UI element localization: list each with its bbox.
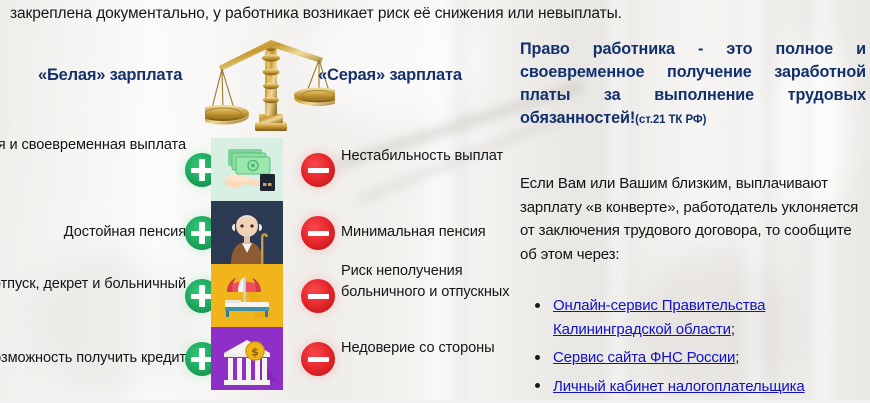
scales-of-justice-icon bbox=[205, 28, 335, 140]
bullet-icon bbox=[535, 383, 540, 388]
column-header-grey-salary: «Серая» зарплата bbox=[318, 66, 462, 85]
rights-headline-article: (ст.21 ТК РФ) bbox=[635, 114, 706, 126]
pro-label: Достойная пенсия bbox=[0, 222, 186, 243]
pro-label: Гарантированная и своевременная выплата bbox=[0, 135, 186, 156]
red-minus-icon bbox=[301, 279, 335, 313]
report-instructions: Если Вам или Вашим близким, выплачивают … bbox=[520, 172, 866, 266]
link-fns-service[interactable]: Сервис сайта ФНС России bbox=[553, 349, 735, 366]
pro-label: Оплаченный отпуск, декрет и больничный bbox=[0, 274, 186, 295]
comparison-row: Гарантированная и своевременная выплата bbox=[0, 138, 510, 201]
red-minus-icon bbox=[301, 153, 335, 187]
rights-headline: Право работника - это полное и своевреме… bbox=[520, 38, 866, 132]
link-tail: ; bbox=[731, 321, 735, 338]
comparison-rows: Гарантированная и своевременная выплата bbox=[0, 138, 510, 390]
link-tail: ; bbox=[735, 349, 739, 366]
list-item: Сервис сайта ФНС России; bbox=[520, 346, 866, 370]
red-minus-icon bbox=[301, 342, 335, 376]
bank-with-coin-icon: $ bbox=[211, 327, 283, 390]
red-minus-icon bbox=[301, 216, 335, 250]
intro-sentence: закреплена документально, у работника во… bbox=[10, 5, 830, 23]
report-channel-list: Онлайн-сервис Правительства Калининградс… bbox=[520, 294, 866, 403]
con-label: Минимальная пенсия bbox=[341, 222, 516, 243]
con-label: Недоверие со стороны bbox=[341, 338, 516, 359]
comparison-row: Возможность получить кредит $ bbox=[0, 327, 510, 390]
money-in-hand-icon bbox=[211, 138, 283, 201]
comparison-row: Достойная пенсия bbox=[0, 201, 510, 264]
pro-label: Возможность получить кредит bbox=[0, 348, 186, 369]
elderly-pensioner-icon bbox=[211, 201, 283, 264]
link-taxpayer-personal-account[interactable]: Личный кабинет налогоплательщика bbox=[553, 378, 805, 395]
beach-umbrella-icon bbox=[211, 264, 283, 327]
con-label: Нестабильность выплат bbox=[341, 146, 516, 167]
list-item: Личный кабинет налогоплательщика bbox=[520, 375, 866, 399]
comparison-row: Оплаченный отпуск, декрет и больничный bbox=[0, 264, 510, 327]
column-header-white-salary: «Белая» зарплата bbox=[38, 66, 182, 85]
list-item: Онлайн-сервис Правительства Калининградс… bbox=[520, 294, 866, 341]
con-label: Риск неполучения больничного и отпускных bbox=[341, 261, 516, 303]
svg-text:$: $ bbox=[251, 346, 259, 359]
bullet-icon bbox=[535, 355, 540, 360]
bullet-icon bbox=[535, 303, 540, 308]
